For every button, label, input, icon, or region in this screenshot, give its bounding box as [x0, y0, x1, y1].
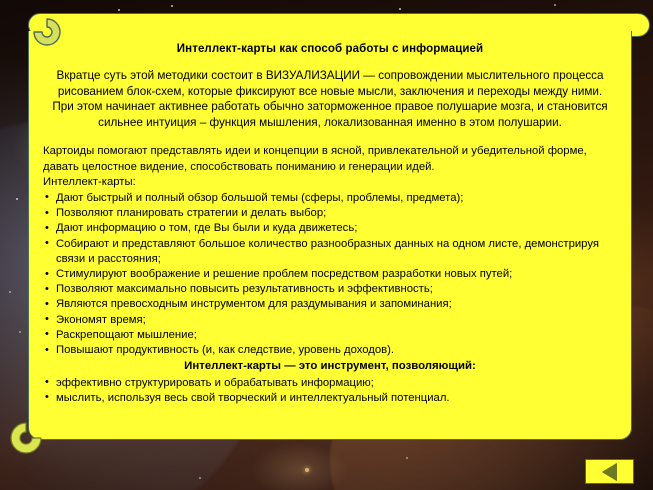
star — [399, 8, 401, 10]
star — [19, 331, 21, 333]
spiral-icon — [30, 15, 64, 49]
star — [554, 4, 556, 6]
list-item: Дают информацию о том, где Вы были и куд… — [43, 221, 619, 236]
spiral-icon — [6, 418, 46, 458]
star — [406, 457, 408, 459]
list-item: мыслить, используя весь свой творческий … — [43, 391, 619, 406]
list-item: Экономят время; — [43, 313, 619, 328]
list-item: Раскрепощают мышление; — [43, 328, 619, 343]
list-item: Повышают продуктивность (и, как следстви… — [43, 343, 619, 358]
star — [9, 291, 11, 293]
sub-heading: Интеллект-карты — это инструмент, позвол… — [41, 359, 619, 374]
list-label: Интеллект-карты: — [43, 175, 617, 190]
list-item: Стимулируют воображение и решение пробле… — [43, 267, 619, 282]
star — [171, 5, 173, 7]
list-item: Дают быстрый и полный обзор большой темы… — [43, 191, 619, 206]
list-item: эффективно структурировать и обрабатыват… — [43, 376, 619, 391]
page-title: Интеллект-карты как способ работы с инфо… — [41, 43, 619, 55]
triangle-left-icon — [602, 463, 617, 481]
list-item: Позволяют планировать стратегии и делать… — [43, 206, 619, 221]
star — [16, 198, 18, 200]
slide-content-panel: Интеллект-карты как способ работы с инфо… — [28, 31, 632, 440]
list-item: Собирают и представляют большое количест… — [43, 237, 619, 267]
benefits-list: Дают быстрый и полный обзор большой темы… — [43, 191, 619, 358]
intro-paragraph: Вкратце суть этой методики состоит в ВИЗ… — [49, 68, 611, 130]
star — [118, 9, 120, 11]
list-item: Позволяют максимально повысить результат… — [43, 282, 619, 297]
list-item: Являются превосходным инструментом для р… — [43, 297, 619, 312]
star — [305, 468, 309, 472]
previous-slide-button[interactable] — [585, 459, 634, 484]
lead-paragraph: Картоиды помогают представлять идеи и ко… — [43, 144, 617, 174]
tool-capabilities-list: эффективно структурировать и обрабатыват… — [43, 376, 619, 406]
star — [199, 477, 201, 479]
